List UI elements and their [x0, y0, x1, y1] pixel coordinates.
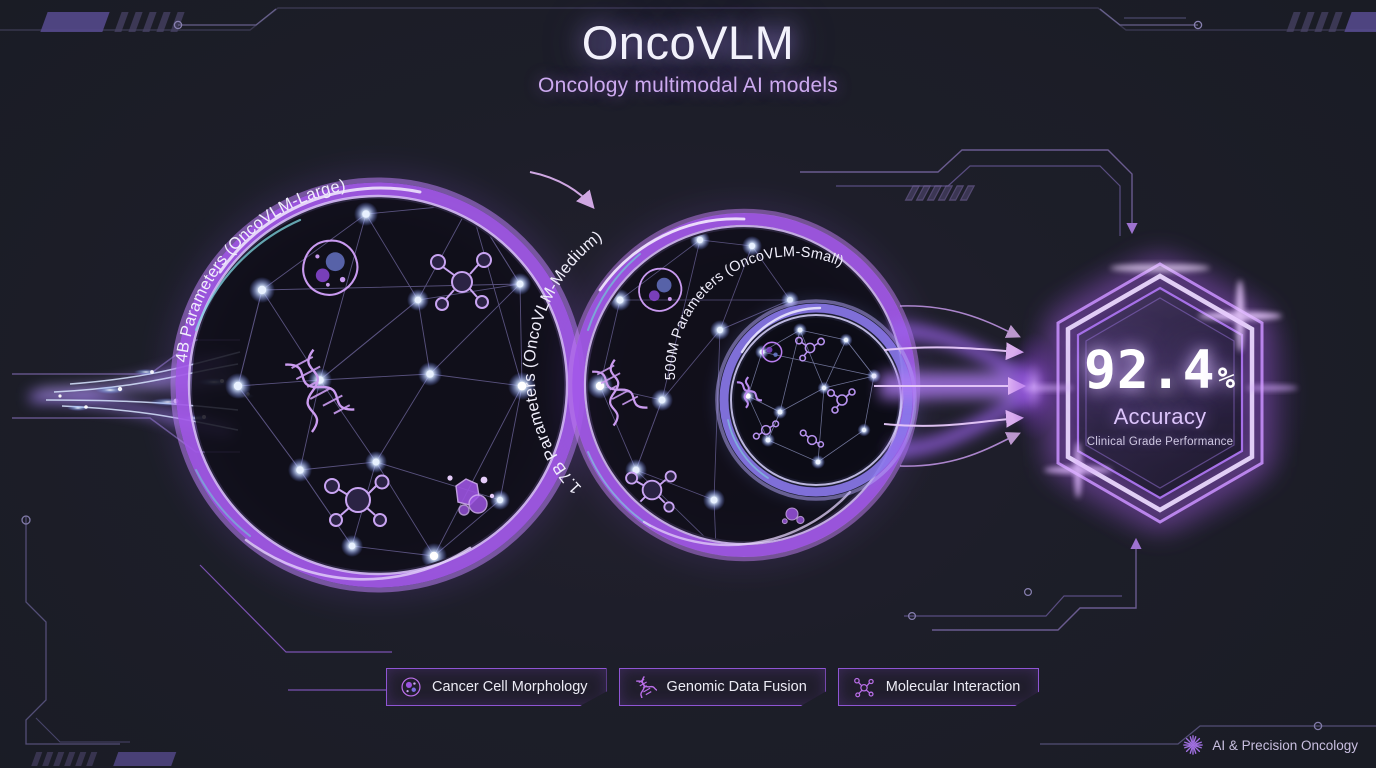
- ring-label-large: 4B Parameters (OncoVLM-Large): [173, 176, 347, 363]
- legend-chip-label: Cancer Cell Morphology: [432, 679, 588, 695]
- legend-chip-label: Molecular Interaction: [886, 679, 1021, 695]
- ring-label-medium: 1.7B Parameters (OncoVLM-Medium): [521, 227, 606, 497]
- circuit-traces-lower: [904, 540, 1136, 630]
- brand-footer: AI & Precision Oncology: [1182, 734, 1358, 756]
- cancer-cell-icon-medium: [639, 269, 681, 311]
- cell-cluster-icon-large: [447, 475, 494, 515]
- molecule-icon-small-d: [800, 430, 823, 447]
- cancer-cell-icon-small: [762, 342, 781, 361]
- molecule-icon-large-b: [325, 476, 389, 527]
- model-ring-medium: [570, 211, 918, 559]
- ring-label-small: 500M Parameters (OncoVLM-Small): [663, 244, 846, 380]
- chip-connector-line: [200, 565, 392, 690]
- legend-chip-cancer-cell-morphology[interactable]: Cancer Cell Morphology: [386, 668, 607, 706]
- network-graph-medium: [587, 230, 804, 558]
- cancer-cell-icon-large: [303, 241, 357, 295]
- accuracy-badge: 92.4% Accuracy Clinical Grade Performanc…: [1040, 262, 1280, 524]
- network-graph-large: [225, 192, 536, 569]
- dna-helix-icon-large: [278, 346, 354, 432]
- legend-row: Cancer Cell Morphology Genomic Data Fusi…: [386, 668, 1039, 706]
- ring-transition-arrow: [530, 172, 592, 206]
- accuracy-value-row: 92.4%: [1084, 344, 1236, 397]
- molecule-icon-small-c: [753, 421, 778, 439]
- brand-label: AI & Precision Oncology: [1212, 738, 1358, 753]
- molecule-icon-medium: [626, 471, 676, 511]
- model-ring-small: [717, 301, 915, 499]
- molecule-icon-large-a: [431, 253, 491, 310]
- dna-helix-icon-small: [735, 376, 762, 408]
- hud-decoration-left: [0, 516, 176, 766]
- legend-chip-molecular-interaction[interactable]: Molecular Interaction: [838, 668, 1040, 706]
- ring-labels: 4B Parameters (OncoVLM-Large) 1.7B Param…: [173, 176, 846, 497]
- page-subtitle: Oncology multimodal AI models: [0, 74, 1376, 98]
- dna-helix-icon-medium: [587, 357, 648, 426]
- molecule-icon-small-b: [828, 389, 855, 413]
- percent-symbol: %: [1218, 364, 1236, 393]
- dna-helix-icon: [633, 676, 657, 698]
- molecule-icon: [852, 676, 876, 698]
- circuit-traces-upper: [800, 150, 1132, 236]
- accuracy-label: Accuracy: [1114, 404, 1207, 430]
- accuracy-sublabel: Clinical Grade Performance: [1087, 436, 1233, 448]
- network-graph-small: [735, 323, 881, 469]
- legend-chip-label: Genomic Data Fusion: [667, 679, 807, 695]
- page-header: OncoVLM Oncology multimodal AI models: [0, 18, 1376, 98]
- legend-chip-genomic-data-fusion[interactable]: Genomic Data Fusion: [619, 668, 826, 706]
- model-ring-large: [173, 180, 583, 590]
- cancer-cell-icon: [400, 676, 422, 698]
- infographic-canvas: 4B Parameters (OncoVLM-Large) 1.7B Param…: [0, 0, 1376, 768]
- starburst-icon: [1182, 734, 1204, 756]
- accuracy-value: 92.4: [1084, 344, 1216, 397]
- input-data-stream: [12, 340, 254, 452]
- cell-cluster-icon-medium: [782, 508, 804, 524]
- output-flow-arrows: [874, 306, 1060, 466]
- molecule-icon-small-a: [796, 337, 825, 360]
- page-title: OncoVLM: [0, 18, 1376, 67]
